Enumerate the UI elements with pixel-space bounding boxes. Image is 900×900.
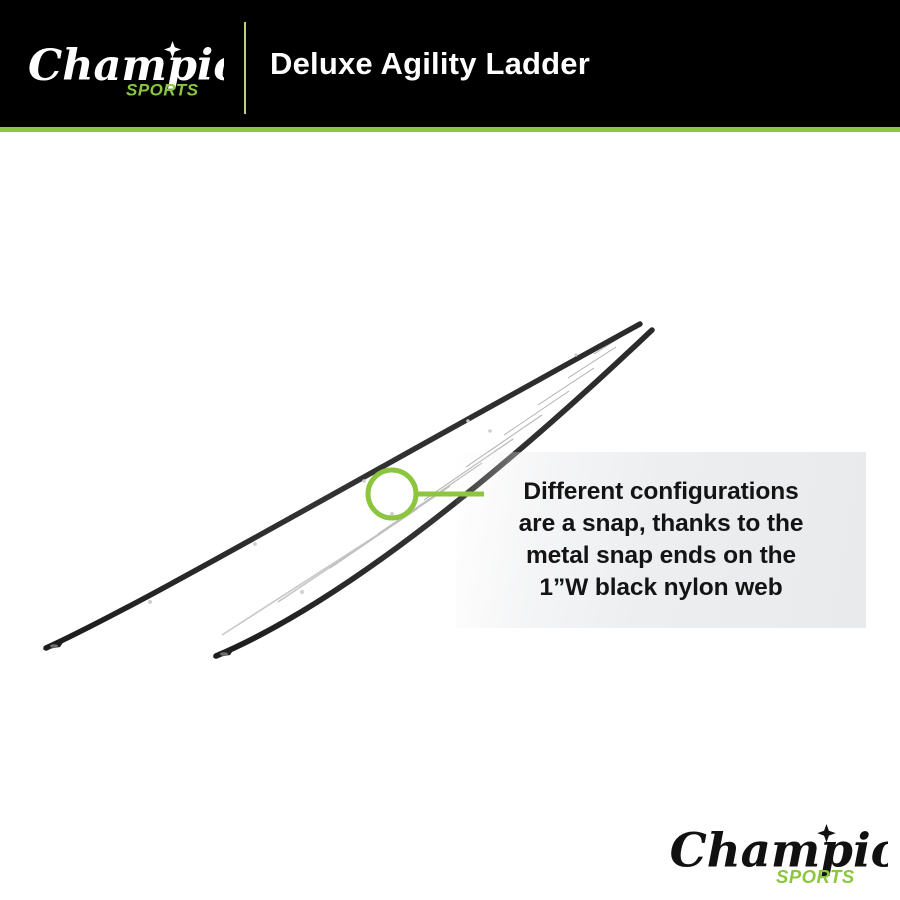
footer-logo-subwordmark: SPORTS — [776, 866, 855, 887]
champion-sports-logo-header: Champion SPORTS — [28, 30, 224, 100]
page-title: Deluxe Agility Ladder — [270, 46, 590, 82]
champion-sports-logo-footer: Champion SPORTS — [664, 812, 888, 888]
product-marketing-image: Champion SPORTS Deluxe Agility Ladder — [0, 0, 900, 900]
callout-line-1: Different configurations — [470, 476, 852, 508]
highlight-circle-icon — [368, 470, 416, 518]
callout-line-3: metal snap ends on the — [470, 540, 852, 572]
header-accent-bar — [0, 127, 900, 132]
header-logo-subwordmark: SPORTS — [126, 81, 199, 100]
callout-line-2: are a snap, thanks to the — [470, 508, 852, 540]
callout-text: Different configurations are a snap, tha… — [470, 476, 852, 604]
header-divider — [244, 22, 246, 114]
callout-line-4: 1”W black nylon web — [470, 572, 852, 604]
